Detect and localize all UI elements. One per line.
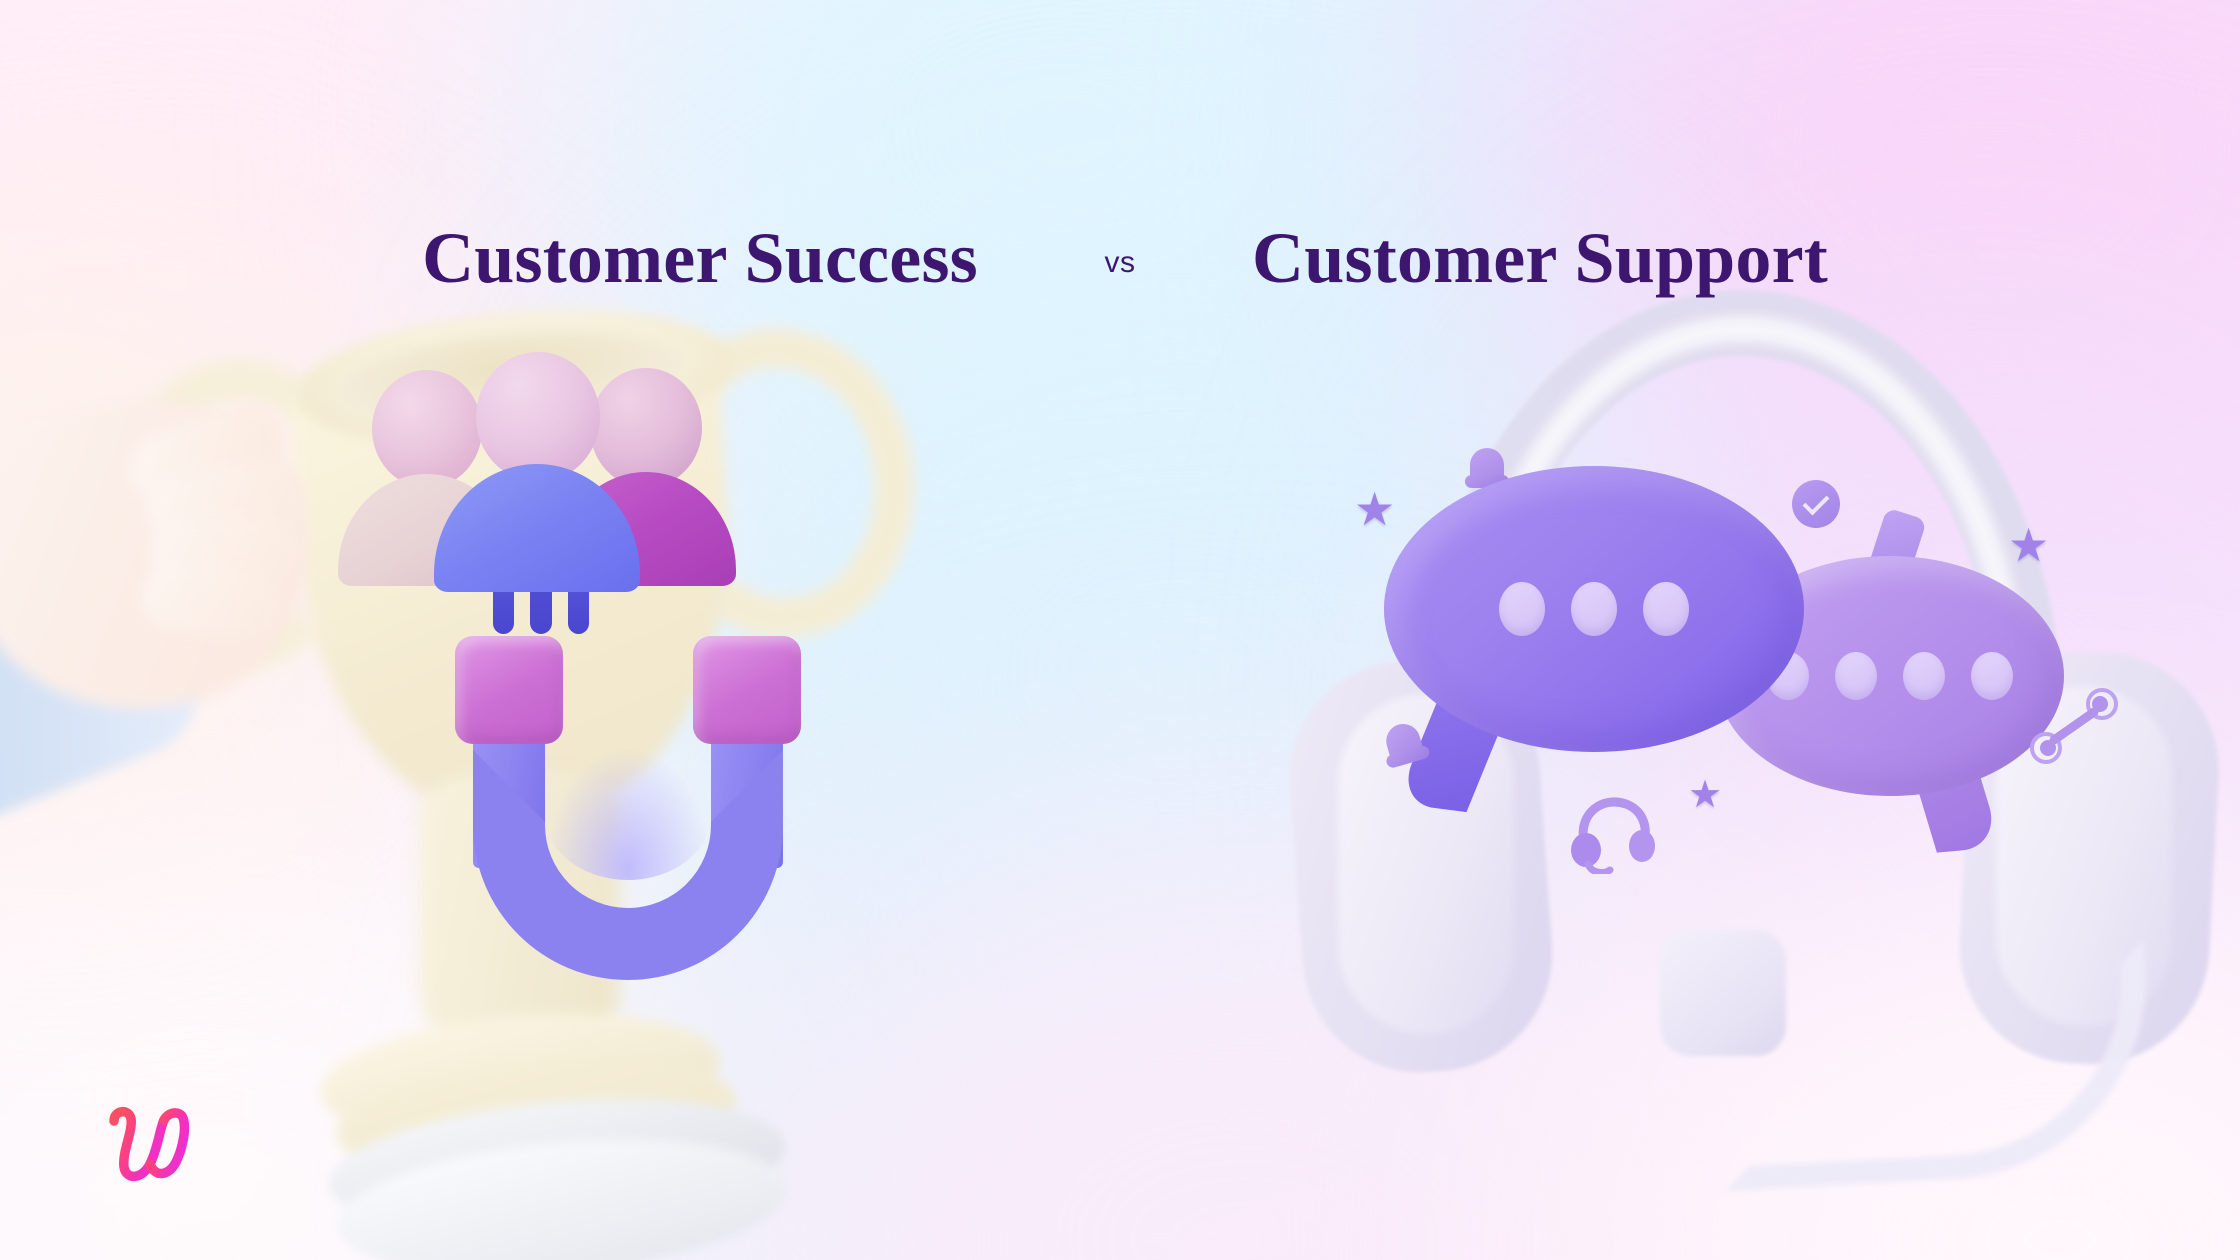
star-icon-3: ★ xyxy=(1688,776,1722,814)
bell-icon-1 xyxy=(1470,448,1504,480)
person-head xyxy=(476,352,600,482)
headset-icon-small xyxy=(1568,788,1660,874)
star-glyph: ★ xyxy=(1688,776,1722,814)
brand-logo-w[interactable] xyxy=(98,1088,208,1198)
person-center xyxy=(434,352,640,582)
typing-dot xyxy=(1971,652,2013,700)
customer-support-illustration: ★ ★ ★ xyxy=(1280,290,2240,1260)
typing-dot xyxy=(1903,652,1945,700)
handset-icon-svg xyxy=(2020,674,2130,784)
typing-dot xyxy=(1571,582,1617,636)
typing-dot xyxy=(1643,582,1689,636)
magnet-highlight xyxy=(545,750,711,880)
chat-bubble-front xyxy=(1384,466,1804,752)
check-icon xyxy=(1792,480,1840,528)
poster-canvas: ★ ★ ★ xyxy=(0,0,2240,1260)
magnet-tip-left xyxy=(455,636,563,744)
handset-icon xyxy=(2020,674,2130,789)
star-glyph: ★ xyxy=(1354,486,1395,532)
star-glyph: ★ xyxy=(2008,522,2049,568)
star-icon-2: ★ xyxy=(2008,522,2049,568)
person-body xyxy=(434,464,640,592)
star-icon-1: ★ xyxy=(1354,486,1395,532)
brand-logo-w-svg xyxy=(98,1088,208,1198)
magnet-tip-right xyxy=(693,636,801,744)
typing-dot xyxy=(1835,652,1877,700)
headline-separator-vs: vs xyxy=(1050,246,1190,280)
headset-microphone-tip xyxy=(1660,930,1786,1056)
headset-icon-small-svg xyxy=(1568,788,1660,874)
check-glyph xyxy=(1803,489,1830,516)
headline-customer-success: Customer Success xyxy=(350,222,1050,294)
headline-customer-support: Customer Support xyxy=(1190,222,1890,294)
typing-dot xyxy=(1499,582,1545,636)
